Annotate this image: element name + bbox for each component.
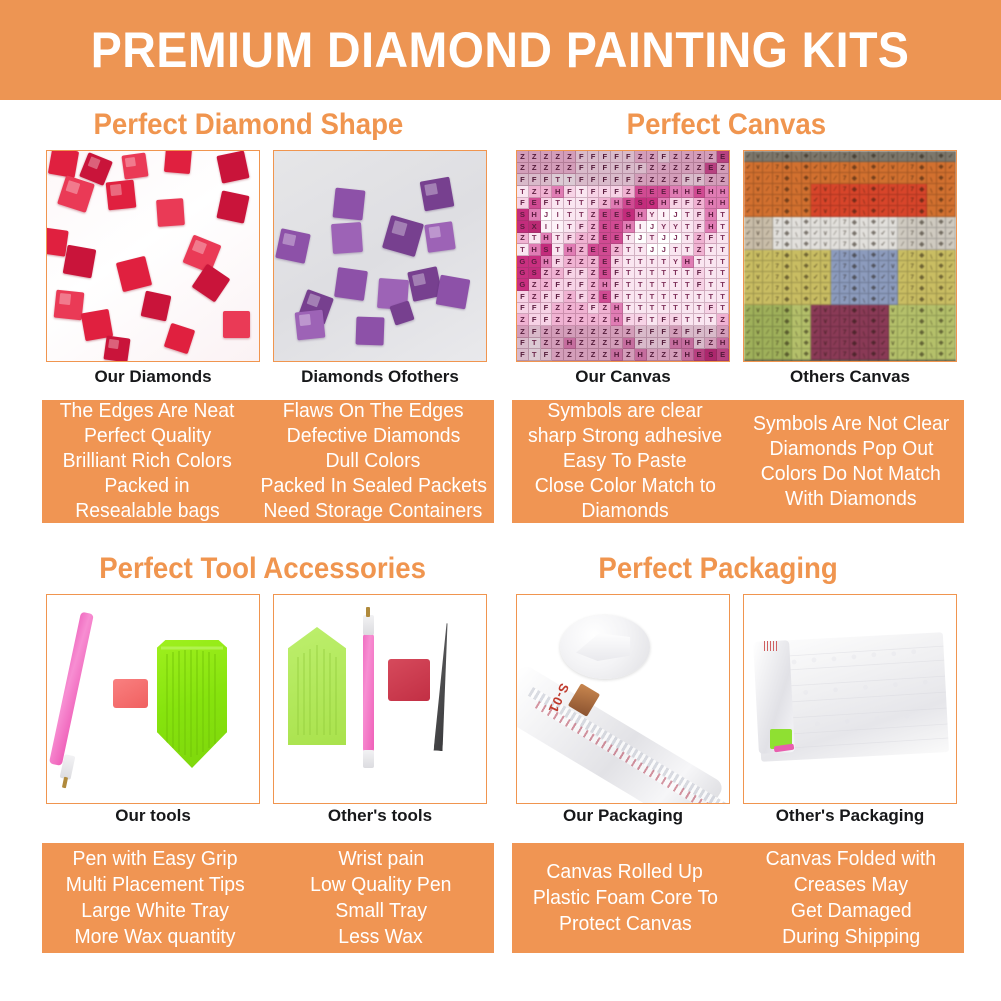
- drill-facet-icon: [299, 314, 311, 326]
- canvas-symbol-cell: Z: [588, 326, 600, 338]
- canvas-symbol-cell: T: [623, 303, 635, 315]
- blurry-canvas-cell: ∕: [831, 206, 841, 217]
- canvas-symbol-cell: H: [682, 349, 694, 361]
- canvas-symbol-cell: F: [529, 174, 541, 186]
- blurry-canvas-cell: ﹨: [792, 239, 802, 250]
- canvas-symbol-cell: Z: [599, 338, 611, 350]
- canvas-symbol-cell: H: [611, 314, 623, 326]
- blurry-canvas-cell: ✓: [811, 206, 821, 217]
- red-drill-icon: [63, 245, 97, 279]
- canvas-symbol-cell: Z: [541, 186, 553, 198]
- canvas-symbol-cell: Z: [694, 151, 706, 163]
- canvas-symbol-cell: Z: [705, 151, 717, 163]
- blurry-canvas-cell: 7: [840, 316, 850, 327]
- blurry-canvas-cell: ◆: [917, 162, 927, 173]
- panel-diamond-shape: The Edges Are Neat Perfect Quality Brill…: [42, 400, 494, 523]
- blurry-canvas-cell: ◆: [917, 294, 927, 305]
- canvas-symbol-cell: Z: [576, 244, 588, 256]
- blurry-canvas-cell: ✓: [744, 184, 754, 195]
- canvas-symbol-cell: E: [705, 163, 717, 175]
- blurry-canvas-cell: 7: [840, 173, 850, 184]
- drill-facet-icon: [412, 273, 426, 287]
- blurry-canvas-cell: 7: [773, 184, 783, 195]
- purple-drill-icon: [436, 275, 471, 310]
- canvas-symbol-cell: J: [541, 209, 553, 221]
- panel-line: During Shipping: [782, 924, 920, 950]
- small-green-tray-icon: [288, 627, 346, 745]
- canvas-symbol-cell: Z: [552, 326, 564, 338]
- canvas-symbol-cell: T: [682, 279, 694, 291]
- canvas-symbol-cell: S: [541, 244, 553, 256]
- canvas-symbol-cell: Z: [552, 303, 564, 315]
- canvas-symbol-cell: F: [682, 198, 694, 210]
- panel-line: Need Storage Containers: [264, 499, 483, 524]
- blurry-canvas-cell: ✓: [811, 294, 821, 305]
- canvas-symbol-cell: Z: [564, 303, 576, 315]
- blurry-canvas-cell: ❖: [937, 206, 947, 217]
- blurry-canvas-cell: ∨: [821, 327, 831, 338]
- blurry-canvas-cell: ∕: [763, 360, 773, 362]
- blurry-canvas-cell: ∨: [821, 360, 831, 362]
- canvas-symbol-cell: F: [576, 268, 588, 280]
- blurry-canvas-cell: ❖: [802, 272, 812, 283]
- canvas-symbol-cell: I: [658, 209, 670, 221]
- purple-drill-icon: [420, 177, 455, 212]
- blurry-canvas-cell: ∕: [831, 272, 841, 283]
- blurry-canvas-cell: ◆: [850, 173, 860, 184]
- canvas-symbol-cell: F: [611, 291, 623, 303]
- blurry-canvas-cell: ✓: [946, 338, 956, 349]
- canvas-symbol-cell: F: [588, 186, 600, 198]
- purple-drill-icon: [334, 267, 368, 301]
- canvas-symbol-cell: I: [552, 221, 564, 233]
- canvas-symbol-cell: Z: [552, 314, 564, 326]
- canvas-symbol-cell: F: [611, 186, 623, 198]
- canvas-symbol-cell: Z: [576, 256, 588, 268]
- blurry-canvas-cell: ∕: [831, 261, 841, 272]
- blurry-canvas-cell: ﹨: [860, 360, 870, 362]
- red-drill-icon: [182, 234, 221, 273]
- blurry-canvas-cell: ﹨: [860, 294, 870, 305]
- blurry-canvas-cell: ﹨: [927, 195, 937, 206]
- blurry-canvas-cell: ❖: [869, 316, 879, 327]
- canvas-symbol-cell: F: [694, 268, 706, 280]
- blurry-canvas-cell: ◆: [783, 217, 793, 228]
- blurry-canvas-cell: ❖: [937, 162, 947, 173]
- caption-others-canvas: Others Canvas: [743, 367, 957, 387]
- blurry-canvas-cell: ✓: [946, 360, 956, 362]
- canvas-symbol-cell: Z: [647, 349, 659, 361]
- blurry-canvas-cell: ﹨: [927, 360, 937, 362]
- canvas-symbol-cell: Y: [658, 221, 670, 233]
- blurry-canvas-cell: ∨: [754, 151, 764, 162]
- canvas-symbol-cell: T: [682, 268, 694, 280]
- blurry-canvas-cell: ✓: [811, 195, 821, 206]
- blurry-canvas-cell: ✓: [811, 261, 821, 272]
- blurry-canvas-cell: 7: [773, 294, 783, 305]
- blurry-canvas-cell: ∨: [889, 239, 899, 250]
- canvas-symbol-cell: I: [541, 221, 553, 233]
- blurry-canvas-cell: ﹨: [792, 228, 802, 239]
- panel-line: More Wax quantity: [74, 924, 235, 950]
- blurry-canvas-cell: ﹨: [860, 151, 870, 162]
- canvas-symbol-cell: F: [623, 314, 635, 326]
- blurry-canvas-cell: 7: [773, 360, 783, 362]
- blurry-canvas-cell: ✓: [879, 305, 889, 316]
- canvas-symbol-cell: F: [588, 198, 600, 210]
- blurry-canvas-cell: 7: [773, 327, 783, 338]
- pen-metal-tip-icon: [366, 607, 370, 617]
- canvas-symbol-cell: F: [682, 174, 694, 186]
- canvas-symbol-cell: Z: [517, 314, 529, 326]
- blurry-canvas-cell: ∕: [898, 316, 908, 327]
- blurry-canvas-cell: ∨: [889, 162, 899, 173]
- canvas-symbol-cell: E: [611, 209, 623, 221]
- blurry-canvas-cell: ﹨: [792, 283, 802, 294]
- panel-line: Symbols Are Not Clear: [753, 412, 949, 437]
- canvas-symbol-cell: F: [599, 186, 611, 198]
- canvas-symbol-cell: H: [635, 209, 647, 221]
- blurry-canvas-cell: ❖: [802, 305, 812, 316]
- canvas-symbol-cell: F: [599, 174, 611, 186]
- blurry-canvas-cell: ❖: [937, 173, 947, 184]
- blurry-canvas-cell: ✓: [744, 173, 754, 184]
- blurry-canvas-cell: ✓: [744, 305, 754, 316]
- canvas-symbol-cell: T: [694, 291, 706, 303]
- canvas-symbol-cell: T: [647, 233, 659, 245]
- blurry-canvas-cell: ✓: [879, 173, 889, 184]
- canvas-symbol-cell: Z: [576, 303, 588, 315]
- canvas-symbol-cell: E: [717, 349, 729, 361]
- blurry-canvas-cell: ◆: [917, 338, 927, 349]
- blurry-canvas-cell: 7: [908, 283, 918, 294]
- blurry-canvas-cell: ∕: [831, 184, 841, 195]
- canvas-symbol-cell: Z: [694, 163, 706, 175]
- blurry-canvas-cell: ∨: [754, 283, 764, 294]
- blurry-canvas-cell: ✓: [879, 327, 889, 338]
- caption-others-diamonds: Diamonds Ofothers: [273, 367, 487, 387]
- canvas-symbol-cell: T: [564, 198, 576, 210]
- blurry-canvas-cell: ◆: [850, 228, 860, 239]
- canvas-symbol-cell: J: [647, 221, 659, 233]
- purple-drill-icon: [356, 317, 385, 346]
- canvas-symbol-cell: T: [670, 303, 682, 315]
- blurry-canvas-cell: ◆: [783, 162, 793, 173]
- panel-line: Dull Colors: [326, 449, 421, 474]
- blurry-canvas-cell: ∕: [898, 338, 908, 349]
- canvas-symbol-cell: T: [717, 268, 729, 280]
- blurry-canvas-cell: ∕: [898, 162, 908, 173]
- blurry-canvas-cell: 7: [908, 261, 918, 272]
- canvas-symbol-cell: Z: [529, 151, 541, 163]
- canvas-symbol-cell: H: [599, 279, 611, 291]
- blurry-canvas-cell: ❖: [937, 338, 947, 349]
- blurry-canvas-cell: ✓: [946, 206, 956, 217]
- blurry-canvas-cell: ◆: [850, 239, 860, 250]
- blurry-canvas-cell: 7: [840, 261, 850, 272]
- blurry-canvas-cell: 7: [773, 316, 783, 327]
- canvas-symbol-cell: T: [705, 279, 717, 291]
- blurry-canvas-cell: ◆: [783, 261, 793, 272]
- blurry-canvas-cell: 7: [773, 239, 783, 250]
- purple-drills-scene: [274, 151, 486, 361]
- canvas-symbol-cell: F: [576, 279, 588, 291]
- panel-tools: Pen with Easy Grip Multi Placement Tips …: [42, 843, 494, 953]
- section-title-diamond-shape: Perfect Diamond Shape: [93, 108, 403, 142]
- blurry-canvas-cell: ◆: [850, 184, 860, 195]
- canvas-symbol-cell: F: [552, 256, 564, 268]
- canvas-symbol-cell: H: [705, 221, 717, 233]
- blurry-canvas-cell: ∨: [754, 206, 764, 217]
- canvas-symbol-cell: T: [670, 279, 682, 291]
- blurry-canvas-cell: ❖: [869, 261, 879, 272]
- canvas-symbol-cell: I: [635, 221, 647, 233]
- canvas-symbol-cell: Z: [623, 349, 635, 361]
- canvas-symbol-cell: Z: [705, 338, 717, 350]
- canvas-symbol-cell: F: [588, 303, 600, 315]
- blurry-canvas-cell: ◆: [850, 294, 860, 305]
- blurry-canvas-cell: ∨: [889, 261, 899, 272]
- canvas-symbol-cell: T: [717, 209, 729, 221]
- blurry-canvas-cell: 7: [840, 206, 850, 217]
- blurry-canvas-cell: ✓: [811, 162, 821, 173]
- canvas-symbol-cell: Z: [564, 314, 576, 326]
- canvas-symbol-cell: Z: [529, 163, 541, 175]
- red-drill-icon: [57, 175, 95, 213]
- blurry-canvas-cell: ∨: [821, 305, 831, 316]
- canvas-symbol-cell: F: [694, 279, 706, 291]
- blurry-canvas-cell: ✓: [946, 327, 956, 338]
- canvas-symbol-cell: Z: [682, 163, 694, 175]
- canvas-symbol-cell: T: [717, 221, 729, 233]
- blurry-canvas-cell: ❖: [802, 327, 812, 338]
- blurry-canvas-cell: ∨: [754, 327, 764, 338]
- panel-line: Symbols are clear: [547, 399, 702, 424]
- blurry-canvas-cell: ✓: [946, 239, 956, 250]
- red-drill-icon: [116, 256, 152, 292]
- canvas-symbol-cell: F: [576, 221, 588, 233]
- canvas-symbol-cell: E: [599, 233, 611, 245]
- panel-col-our-tools: Pen with Easy Grip Multi Placement Tips …: [42, 843, 268, 953]
- blurry-canvas-cell: 7: [840, 217, 850, 228]
- blurry-canvas-cell: ✓: [946, 217, 956, 228]
- panel-canvas: Symbols are clear sharp Strong adhesive …: [512, 400, 964, 523]
- blurry-canvas-cell: ∨: [821, 162, 831, 173]
- canvas-symbol-cell: F: [541, 291, 553, 303]
- panel-line: Canvas Rolled Up: [547, 859, 703, 885]
- canvas-symbol-cell: H: [682, 256, 694, 268]
- blurry-canvas-cell: ∕: [763, 283, 773, 294]
- blurry-canvas-cell: ∕: [898, 294, 908, 305]
- canvas-symbol-cell: Z: [717, 163, 729, 175]
- blurry-canvas-cell: 7: [840, 349, 850, 360]
- blurry-canvas-cell: ✓: [946, 283, 956, 294]
- canvas-symbol-cell: Z: [611, 326, 623, 338]
- blurry-canvas-cell: ❖: [802, 360, 812, 362]
- blurry-canvas-cell: ✓: [811, 283, 821, 294]
- canvas-symbol-cell: Z: [588, 291, 600, 303]
- canvas-symbol-cell: J: [635, 233, 647, 245]
- canvas-symbol-cell: T: [682, 209, 694, 221]
- canvas-symbol-cell: F: [552, 291, 564, 303]
- canvas-symbol-cell: F: [588, 174, 600, 186]
- blurry-canvas-cell: 7: [908, 206, 918, 217]
- blurry-canvas-cell: ﹨: [927, 162, 937, 173]
- canvas-symbol-cell: Z: [717, 314, 729, 326]
- canvas-symbol-cell: T: [576, 209, 588, 221]
- canvas-symbol-cell: T: [635, 244, 647, 256]
- blurry-canvas-cell: ✓: [811, 184, 821, 195]
- blurry-canvas-cell: ✓: [811, 349, 821, 360]
- blurry-canvas-cell: ﹨: [860, 316, 870, 327]
- canvas-symbol-cell: H: [529, 209, 541, 221]
- canvas-symbol-cell: H: [529, 244, 541, 256]
- canvas-symbol-cell: F: [576, 163, 588, 175]
- canvas-symbol-cell: T: [623, 244, 635, 256]
- blurry-canvas-cell: ◆: [917, 239, 927, 250]
- blurry-canvas-cell: ✓: [879, 338, 889, 349]
- panel-line: Diamonds: [581, 499, 668, 524]
- blurry-canvas-cell: ∕: [898, 195, 908, 206]
- red-drill-icon: [156, 198, 185, 227]
- blurry-canvas-cell: 7: [773, 195, 783, 206]
- panel-line: Brilliant Rich Colors: [63, 449, 232, 474]
- canvas-symbol-cell: Z: [635, 174, 647, 186]
- page-title: PREMIUM DIAMOND PAINTING KITS: [91, 21, 910, 79]
- blurry-canvas-cell: ﹨: [792, 316, 802, 327]
- blurry-canvas-cell: ◆: [850, 261, 860, 272]
- blurry-canvas-cell: ✓: [744, 294, 754, 305]
- canvas-symbol-cell: Z: [599, 349, 611, 361]
- blurry-canvas-cell: ﹨: [860, 250, 870, 261]
- blurry-canvas-cell: ✓: [811, 360, 821, 362]
- blurry-canvas-cell: 7: [908, 316, 918, 327]
- drill-facet-icon: [108, 339, 119, 349]
- red-wax-square-icon: [388, 659, 430, 701]
- canvas-symbol-cell: Z: [694, 198, 706, 210]
- canvas-symbol-cell: F: [647, 338, 659, 350]
- canvas-symbol-cell: T: [658, 268, 670, 280]
- purple-drill-icon: [424, 221, 456, 253]
- blurry-canvas-cell: ◆: [850, 283, 860, 294]
- blurry-canvas-cell: ✓: [811, 316, 821, 327]
- blurry-canvas-cell: ◆: [917, 250, 927, 261]
- blurry-canvas-cell: ❖: [937, 250, 947, 261]
- blurry-canvas-cell: ✓: [744, 327, 754, 338]
- blurry-canvas-cell: 7: [908, 349, 918, 360]
- blurry-canvas-cell: 7: [908, 327, 918, 338]
- canvas-symbol-cell: T: [705, 268, 717, 280]
- blurry-canvas-cell: 7: [908, 250, 918, 261]
- canvas-symbol-cell: Z: [717, 174, 729, 186]
- canvas-symbol-cell: F: [576, 291, 588, 303]
- canvas-symbol-cell: H: [670, 338, 682, 350]
- blurry-canvas-cell: ◆: [917, 283, 927, 294]
- blurry-canvas-cell: ❖: [802, 239, 812, 250]
- blurry-canvas-cell: ∕: [831, 228, 841, 239]
- blurry-canvas-cell: ﹨: [792, 195, 802, 206]
- canvas-symbol-cell: S: [529, 268, 541, 280]
- blurry-canvas-cell: ﹨: [860, 228, 870, 239]
- blurry-canvas-cell: ❖: [869, 239, 879, 250]
- blurry-canvas-cell: ∕: [831, 327, 841, 338]
- section-title-packaging: Perfect Packaging: [598, 552, 837, 586]
- blurry-canvas-cell: ◆: [850, 206, 860, 217]
- panel-line: Close Color Match to: [534, 474, 715, 499]
- blurry-canvas-cell: ﹨: [860, 283, 870, 294]
- blurry-canvas-cell: ✓: [946, 184, 956, 195]
- blurry-canvas-cell: ﹨: [860, 261, 870, 272]
- canvas-symbol-cell: Z: [717, 326, 729, 338]
- blurry-canvas-cell: ✓: [879, 294, 889, 305]
- blurry-canvas-cell: ﹨: [792, 305, 802, 316]
- blurry-canvas-cell: 7: [840, 294, 850, 305]
- canvas-symbol-cell: F: [564, 279, 576, 291]
- blurry-canvas-cell: ﹨: [927, 206, 937, 217]
- blurry-canvas-cell: ∕: [763, 316, 773, 327]
- caption-our-diamonds: Our Diamonds: [46, 367, 260, 387]
- blurry-canvas-cell: ◆: [783, 305, 793, 316]
- canvas-symbol-cell: Z: [647, 151, 659, 163]
- blurry-canvas-cell: ∕: [763, 239, 773, 250]
- blurry-canvas-cell: ✓: [946, 272, 956, 283]
- canvas-symbol-cell: E: [599, 268, 611, 280]
- blurry-canvas-cell: ∨: [754, 162, 764, 173]
- blurry-canvas-cell: ﹨: [860, 305, 870, 316]
- our-tools-photo: [46, 594, 260, 804]
- canvas-symbol-cell: E: [529, 198, 541, 210]
- panel-line: Less Wax: [339, 924, 423, 950]
- panel-line: Canvas Folded with: [766, 846, 936, 872]
- canvas-symbol-cell: Z: [588, 233, 600, 245]
- canvas-symbol-cell: T: [658, 291, 670, 303]
- canvas-symbol-cell: F: [564, 268, 576, 280]
- infographic-page: PREMIUM DIAMOND PAINTING KITS Perfect Di…: [0, 0, 1001, 1001]
- blurry-canvas-cell: ◆: [850, 305, 860, 316]
- blurry-canvas-cell: ✓: [946, 162, 956, 173]
- blurry-canvas-cell: ∕: [898, 184, 908, 195]
- canvas-symbol-cell: Z: [564, 163, 576, 175]
- canvas-symbol-cell: T: [717, 291, 729, 303]
- blurry-canvas-cell: ∨: [821, 338, 831, 349]
- blurry-canvas-cell: ✓: [811, 327, 821, 338]
- blurry-canvas-cell: ∨: [821, 206, 831, 217]
- blurry-canvas-cell: ✓: [744, 228, 754, 239]
- blurry-canvas-cell: ✓: [946, 173, 956, 184]
- canvas-symbol-cell: F: [635, 314, 647, 326]
- drill-facet-icon: [282, 233, 296, 247]
- canvas-symbol-cell: T: [647, 314, 659, 326]
- blurry-canvas-cell: ◆: [850, 360, 860, 362]
- blurry-canvas-cell: ❖: [937, 217, 947, 228]
- canvas-symbol-cell: H: [635, 349, 647, 361]
- blurry-canvas-cell: ✓: [946, 228, 956, 239]
- purple-drill-icon: [389, 300, 414, 325]
- blurry-canvas-cell: ﹨: [792, 349, 802, 360]
- canvas-symbol-cell: Z: [541, 326, 553, 338]
- canvas-symbol-cell: T: [682, 221, 694, 233]
- canvas-symbol-cell: E: [588, 244, 600, 256]
- blurry-color-canvas-photo: ✓∨∕7◆﹨❖✓∨∕7◆﹨❖✓∨∕7◆﹨❖✓✓∨∕7◆﹨❖✓∨∕7◆﹨❖✓∨∕7…: [743, 150, 957, 362]
- canvas-symbol-cell: S: [517, 221, 529, 233]
- blurry-canvas-cell: ﹨: [860, 349, 870, 360]
- bag-seam-icon: [764, 641, 778, 651]
- blurry-canvas-cell: ∨: [754, 349, 764, 360]
- blurry-canvas-cell: ﹨: [927, 151, 937, 162]
- blurry-canvas-cell: ❖: [802, 217, 812, 228]
- blurry-canvas-cell: ❖: [869, 162, 879, 173]
- blurry-canvas-cell: ∕: [898, 173, 908, 184]
